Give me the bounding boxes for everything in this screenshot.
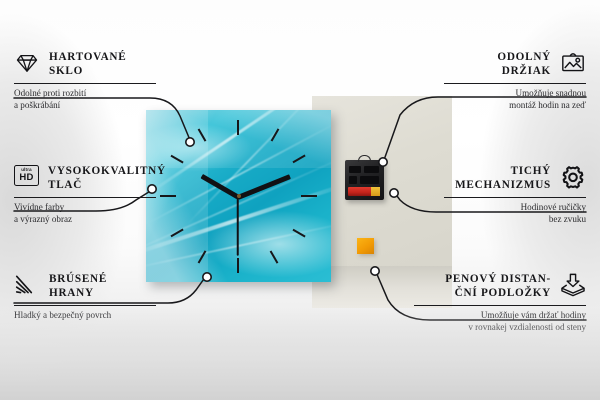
feature-durable-hanger: ODOLNÝ DRŽIAK Umožňuje snadnou montáž ho… [444,50,586,111]
feature-title: HARTOVANÉ SKLO [49,50,126,78]
connector-dot-right-1 [379,158,387,166]
feature-high-quality-print: ultra HD VYSOKOKVALITNÝ TLAČ Vivídne far… [14,164,156,225]
feature-desc-line: Vivídne farby [14,202,156,214]
feature-title: TICHÝ MECHANIZMUS [455,164,551,192]
feature-title-line: DRŽIAK [502,64,551,78]
feature-desc-line: montáž hodin na zeď [444,100,586,112]
infographic-canvas: HARTOVANÉ SKLO Odolné proti rozbití a po… [0,0,600,400]
feature-polished-edges: BRÚSENÉ HRANY Hladký a bezpečný povrch [14,272,156,322]
feature-desc-line: bez zvuku [444,214,586,226]
feature-title-line: SKLO [49,64,126,78]
connector-dot-left-1 [186,138,194,146]
wall-hanger-icon [560,50,586,76]
foam-pad-icon [560,272,586,298]
feature-description: Umožňuje snadnou montáž hodin na zeď [444,88,586,111]
feature-title-line: BRÚSENÉ [49,272,107,286]
feature-title-line: TICHÝ [511,164,551,178]
feature-foam-spacers: PENOVÝ DISTAN- ČNÍ PODLOŽKY Umožňuje vám… [414,272,586,333]
feature-divider [14,305,156,306]
feature-title-line: ODOLNÝ [497,50,551,64]
ultra-hd-icon-main: HD [19,173,33,183]
feature-hardened-glass: HARTOVANÉ SKLO Odolné proti rozbití a po… [14,50,156,111]
feature-title: BRÚSENÉ HRANY [49,272,107,300]
feature-title-line: VYSOKOKVALITNÝ [48,164,166,178]
feature-divider [14,197,156,198]
feature-desc-line: a výrazný obraz [14,214,156,226]
feature-description: Hladký a bezpečný povrch [14,310,156,322]
feature-desc-line: a poškrábání [14,100,156,112]
feature-title-line: HARTOVANÉ [49,50,126,64]
feature-desc-line: Hladký a bezpečný povrch [14,310,156,322]
feature-description: Hodinové ručičky bez zvuku [444,202,586,225]
connector-dot-right-3 [371,267,379,275]
polished-edges-icon [14,272,40,298]
feature-divider [14,83,156,84]
feature-desc-line: v rovnakej vzdialenosti od steny [414,322,586,334]
feature-title-line: PENOVÝ DISTAN- [445,272,551,286]
feature-silent-mechanism: TICHÝ MECHANIZMUS Hodinové ručičky bez z… [444,164,586,225]
feature-title-line: TLAČ [48,178,166,192]
feature-title-line: HRANY [49,286,107,300]
feature-title: ODOLNÝ DRŽIAK [497,50,551,78]
gear-icon [560,164,586,190]
feature-desc-line: Umožňuje vám držať hodiny [414,310,586,322]
connector-dot-right-2 [390,189,398,197]
feature-divider [444,83,586,84]
feature-desc-line: Odolné proti rozbití [14,88,156,100]
feature-description: Umožňuje vám držať hodiny v rovnakej vzd… [414,310,586,333]
feature-divider [444,197,586,198]
feature-title-line: ČNÍ PODLOŽKY [455,286,551,300]
ultra-hd-icon: ultra HD [14,165,39,186]
feature-desc-line: Hodinové ručičky [444,202,586,214]
feature-title-line: MECHANIZMUS [455,178,551,192]
feature-title: VYSOKOKVALITNÝ TLAČ [48,164,166,192]
feature-divider [414,305,586,306]
feature-title: PENOVÝ DISTAN- ČNÍ PODLOŽKY [445,272,551,300]
diamond-icon [14,50,40,76]
feature-desc-line: Umožňuje snadnou [444,88,586,100]
feature-description: Vivídne farby a výrazný obraz [14,202,156,225]
connector-dot-left-3 [203,273,211,281]
feature-description: Odolné proti rozbití a poškrábání [14,88,156,111]
